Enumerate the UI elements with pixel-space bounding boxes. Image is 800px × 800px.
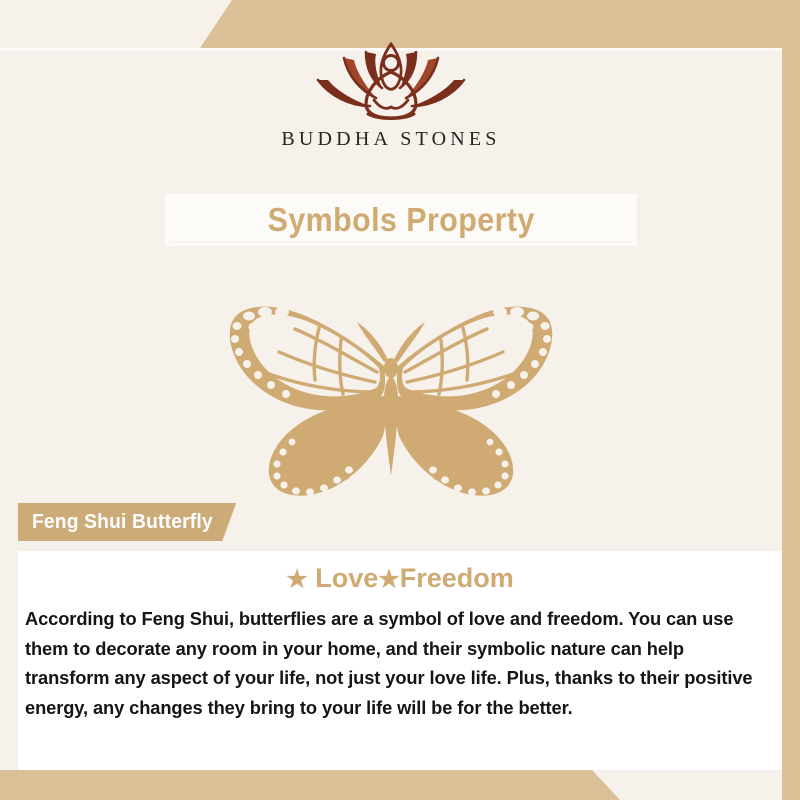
title-band-rule bbox=[169, 241, 633, 242]
content-panel: ★ Love★Freedom According to Feng Shui, b… bbox=[18, 551, 782, 770]
page-title-band: Symbols Property bbox=[165, 194, 637, 246]
hero-graphic bbox=[0, 276, 782, 508]
frame-right-bar bbox=[782, 0, 800, 800]
tagline: ★ Love★Freedom bbox=[18, 563, 782, 594]
star-icon-middle: ★ bbox=[378, 566, 400, 593]
brand-name: BUDDHA STONES bbox=[281, 128, 500, 151]
description-paragraph: According to Feng Shui, butterflies are … bbox=[25, 604, 770, 723]
tagline-word-love: Love bbox=[315, 563, 378, 593]
brand-logo: BUDDHA STONES bbox=[0, 28, 782, 151]
tagline-word-freedom: Freedom bbox=[400, 563, 514, 593]
main-stage: BUDDHA STONES Symbols Property bbox=[0, 51, 782, 770]
star-icon-left: ★ bbox=[286, 566, 308, 593]
butterfly-icon bbox=[191, 276, 591, 508]
page-title: Symbols Property bbox=[267, 201, 534, 239]
lotus-meditation-icon bbox=[296, 28, 486, 126]
frame-bottom-bar bbox=[0, 770, 800, 800]
section-banner-label: Feng Shui Butterfly bbox=[32, 511, 213, 534]
section-banner: Feng Shui Butterfly bbox=[18, 503, 236, 541]
